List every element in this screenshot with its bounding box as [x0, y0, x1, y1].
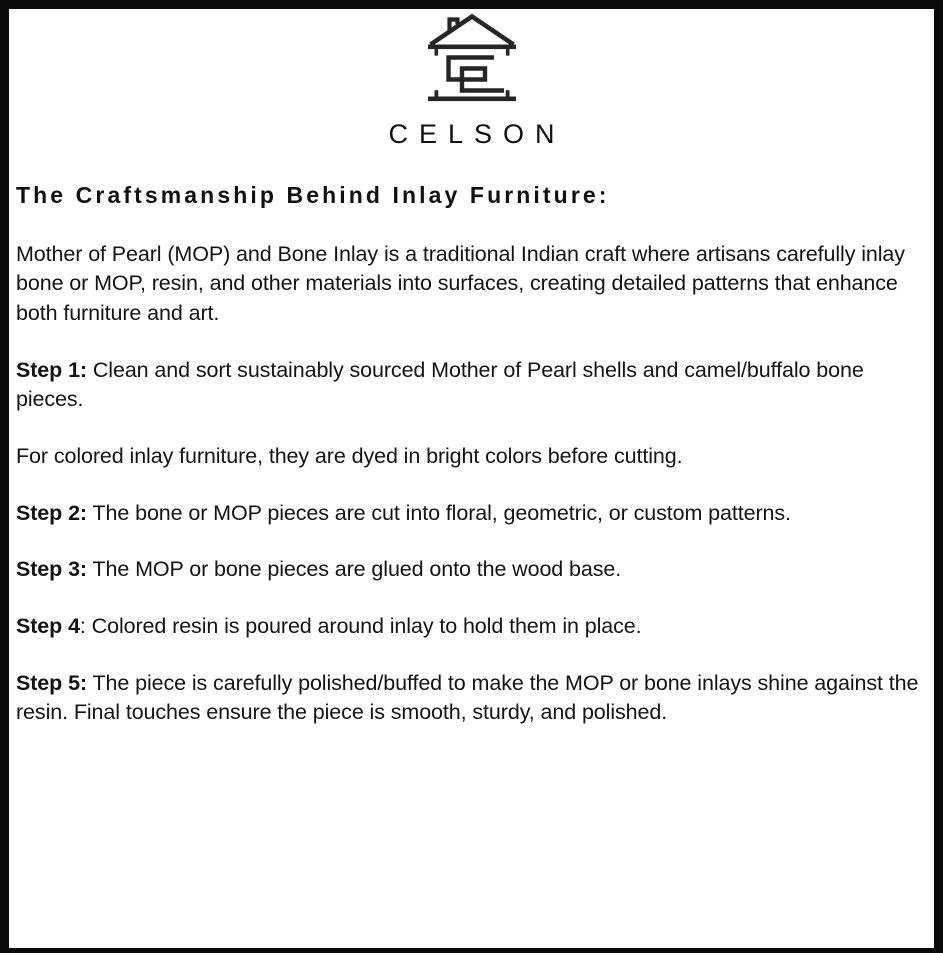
frame-border-bottom [0, 948, 943, 953]
brand-header: CELSON [9, 9, 934, 148]
brand-wordmark: CELSON [9, 121, 934, 148]
paragraph-text: For colored inlay furniture, they are dy… [16, 444, 683, 468]
paragraph-text: The MOP or bone pieces are glued onto th… [87, 557, 621, 581]
paragraph-intro: Mother of Pearl (MOP) and Bone Inlay is … [16, 240, 927, 329]
paragraph-step-4: Step 4: Colored resin is poured around i… [16, 612, 927, 642]
page-title: The Craftsmanship Behind Inlay Furniture… [16, 182, 927, 210]
paragraph-text: The piece is carefully polished/buffed t… [16, 671, 918, 725]
step-label: Step 3: [16, 557, 87, 581]
paragraph-text: The bone or MOP pieces are cut into flor… [87, 501, 791, 525]
frame-border-top [0, 0, 943, 9]
paragraph-step-3: Step 3: The MOP or bone pieces are glued… [16, 555, 927, 585]
paragraph-text: Clean and sort sustainably sourced Mothe… [16, 358, 864, 412]
paragraph-colored-note: For colored inlay furniture, they are dy… [16, 442, 927, 472]
step-label: Step 5: [16, 671, 87, 695]
article-body: The Craftsmanship Behind Inlay Furniture… [9, 182, 934, 728]
poster-content: CELSON The Craftsmanship Behind Inlay Fu… [9, 9, 934, 948]
frame-border-right [934, 0, 943, 953]
paragraph-step-1: Step 1: Clean and sort sustainably sourc… [16, 356, 927, 415]
frame-border-left [0, 0, 9, 953]
paragraph-text: : Colored resin is poured around inlay t… [80, 614, 642, 638]
paragraph-step-2: Step 2: The bone or MOP pieces are cut i… [16, 499, 927, 529]
step-label: Step 4 [16, 614, 80, 638]
poster-card: CELSON The Craftsmanship Behind Inlay Fu… [0, 0, 943, 953]
paragraph-text: Mother of Pearl (MOP) and Bone Inlay is … [16, 242, 905, 325]
step-label: Step 2: [16, 501, 87, 525]
house-monogram-logo-icon [422, 13, 522, 109]
step-label: Step 1: [16, 358, 87, 382]
paragraph-step-5: Step 5: The piece is carefully polished/… [16, 669, 927, 728]
